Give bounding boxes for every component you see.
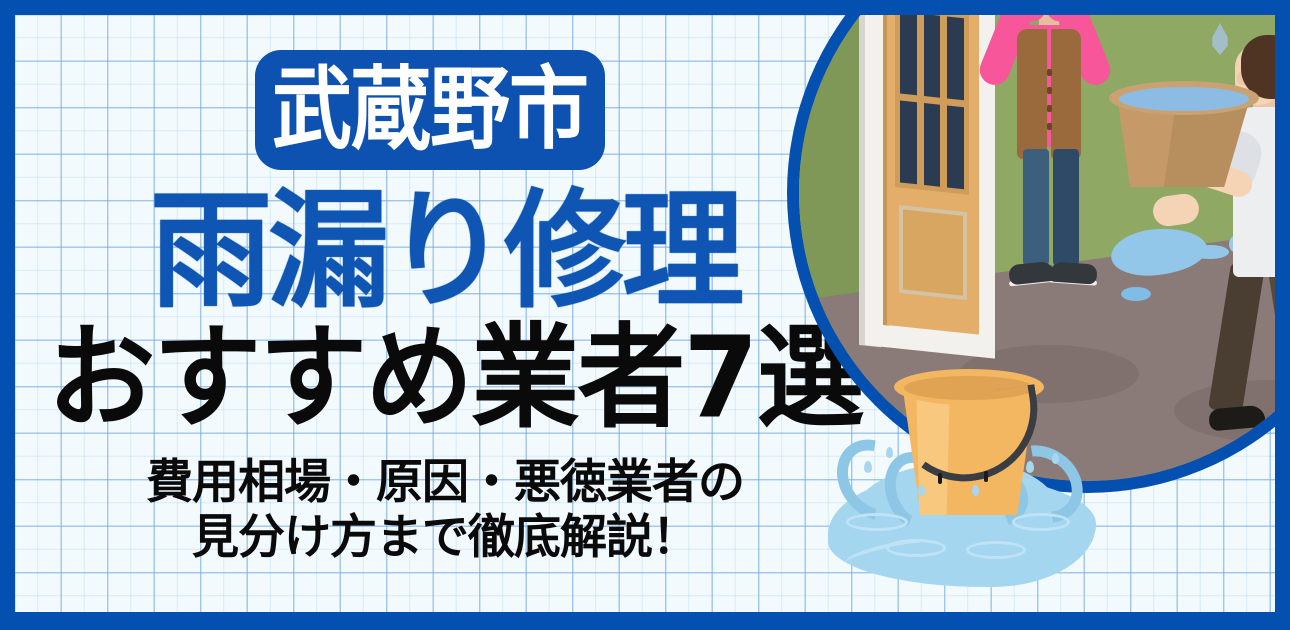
basin-water [1119,87,1249,111]
vest-left [1017,29,1047,159]
door-lower-panel [899,205,967,300]
vest-button [1047,87,1052,94]
water-droplet [1052,453,1059,464]
water-droplet [972,485,979,496]
banner-root: 武蔵野市 雨漏り修理 おすすめ業者7選 費用相場・原因・悪徳業者の 見分け方まで… [0,0,1290,630]
door-pane [900,15,917,95]
text-block: 武蔵野市 雨漏り修理 おすすめ業者7選 費用相場・原因・悪徳業者の 見分け方まで… [15,15,875,612]
door-pane [900,101,917,185]
water-droplet [886,447,893,458]
water-droplet [918,485,925,496]
lead-line2: 見分け方まで徹底解説！ [15,510,875,565]
leaking-bucket [820,365,1120,595]
grid-paper-background: 武蔵野市 雨漏り修理 おすすめ業者7選 費用相場・原因・悪徳業者の 見分け方まで… [15,15,1275,612]
leg-back [1267,260,1275,399]
door-pane [947,16,964,100]
city-badge-label: 武蔵野市 [272,65,588,155]
door-pane [924,103,941,187]
water-droplet [864,461,872,473]
bucket-hole [984,471,988,482]
lead-line1: 費用相場・原因・悪徳業者の [15,455,875,510]
vest-button [1047,123,1052,130]
water-ripple [1012,513,1070,531]
headline-line1: 雨漏り修理 [15,187,875,315]
lead-text: 費用相場・原因・悪徳業者の 見分け方まで徹底解説！ [15,455,875,566]
leg-left [1023,149,1049,267]
leg-right [1053,149,1079,267]
water-droplet [1026,461,1034,473]
bucket-hole [938,473,942,484]
vest-right [1051,29,1081,159]
shoe-back [1274,379,1275,409]
headline-line2: おすすめ業者7選 [15,323,895,435]
door-pane [924,15,941,98]
shoe-right [1048,261,1097,284]
vest-button [1047,105,1052,112]
water-ripple [886,539,946,557]
water-ripple [846,513,908,531]
door-pane [947,105,964,189]
leg-front [1208,262,1265,413]
city-badge: 武蔵野市 [255,50,605,170]
wooden-basin [1109,81,1259,191]
door-glass-grid [895,15,969,195]
shoe-front [1208,405,1266,432]
water-ripple [966,541,1026,559]
vest-button [1047,69,1052,76]
